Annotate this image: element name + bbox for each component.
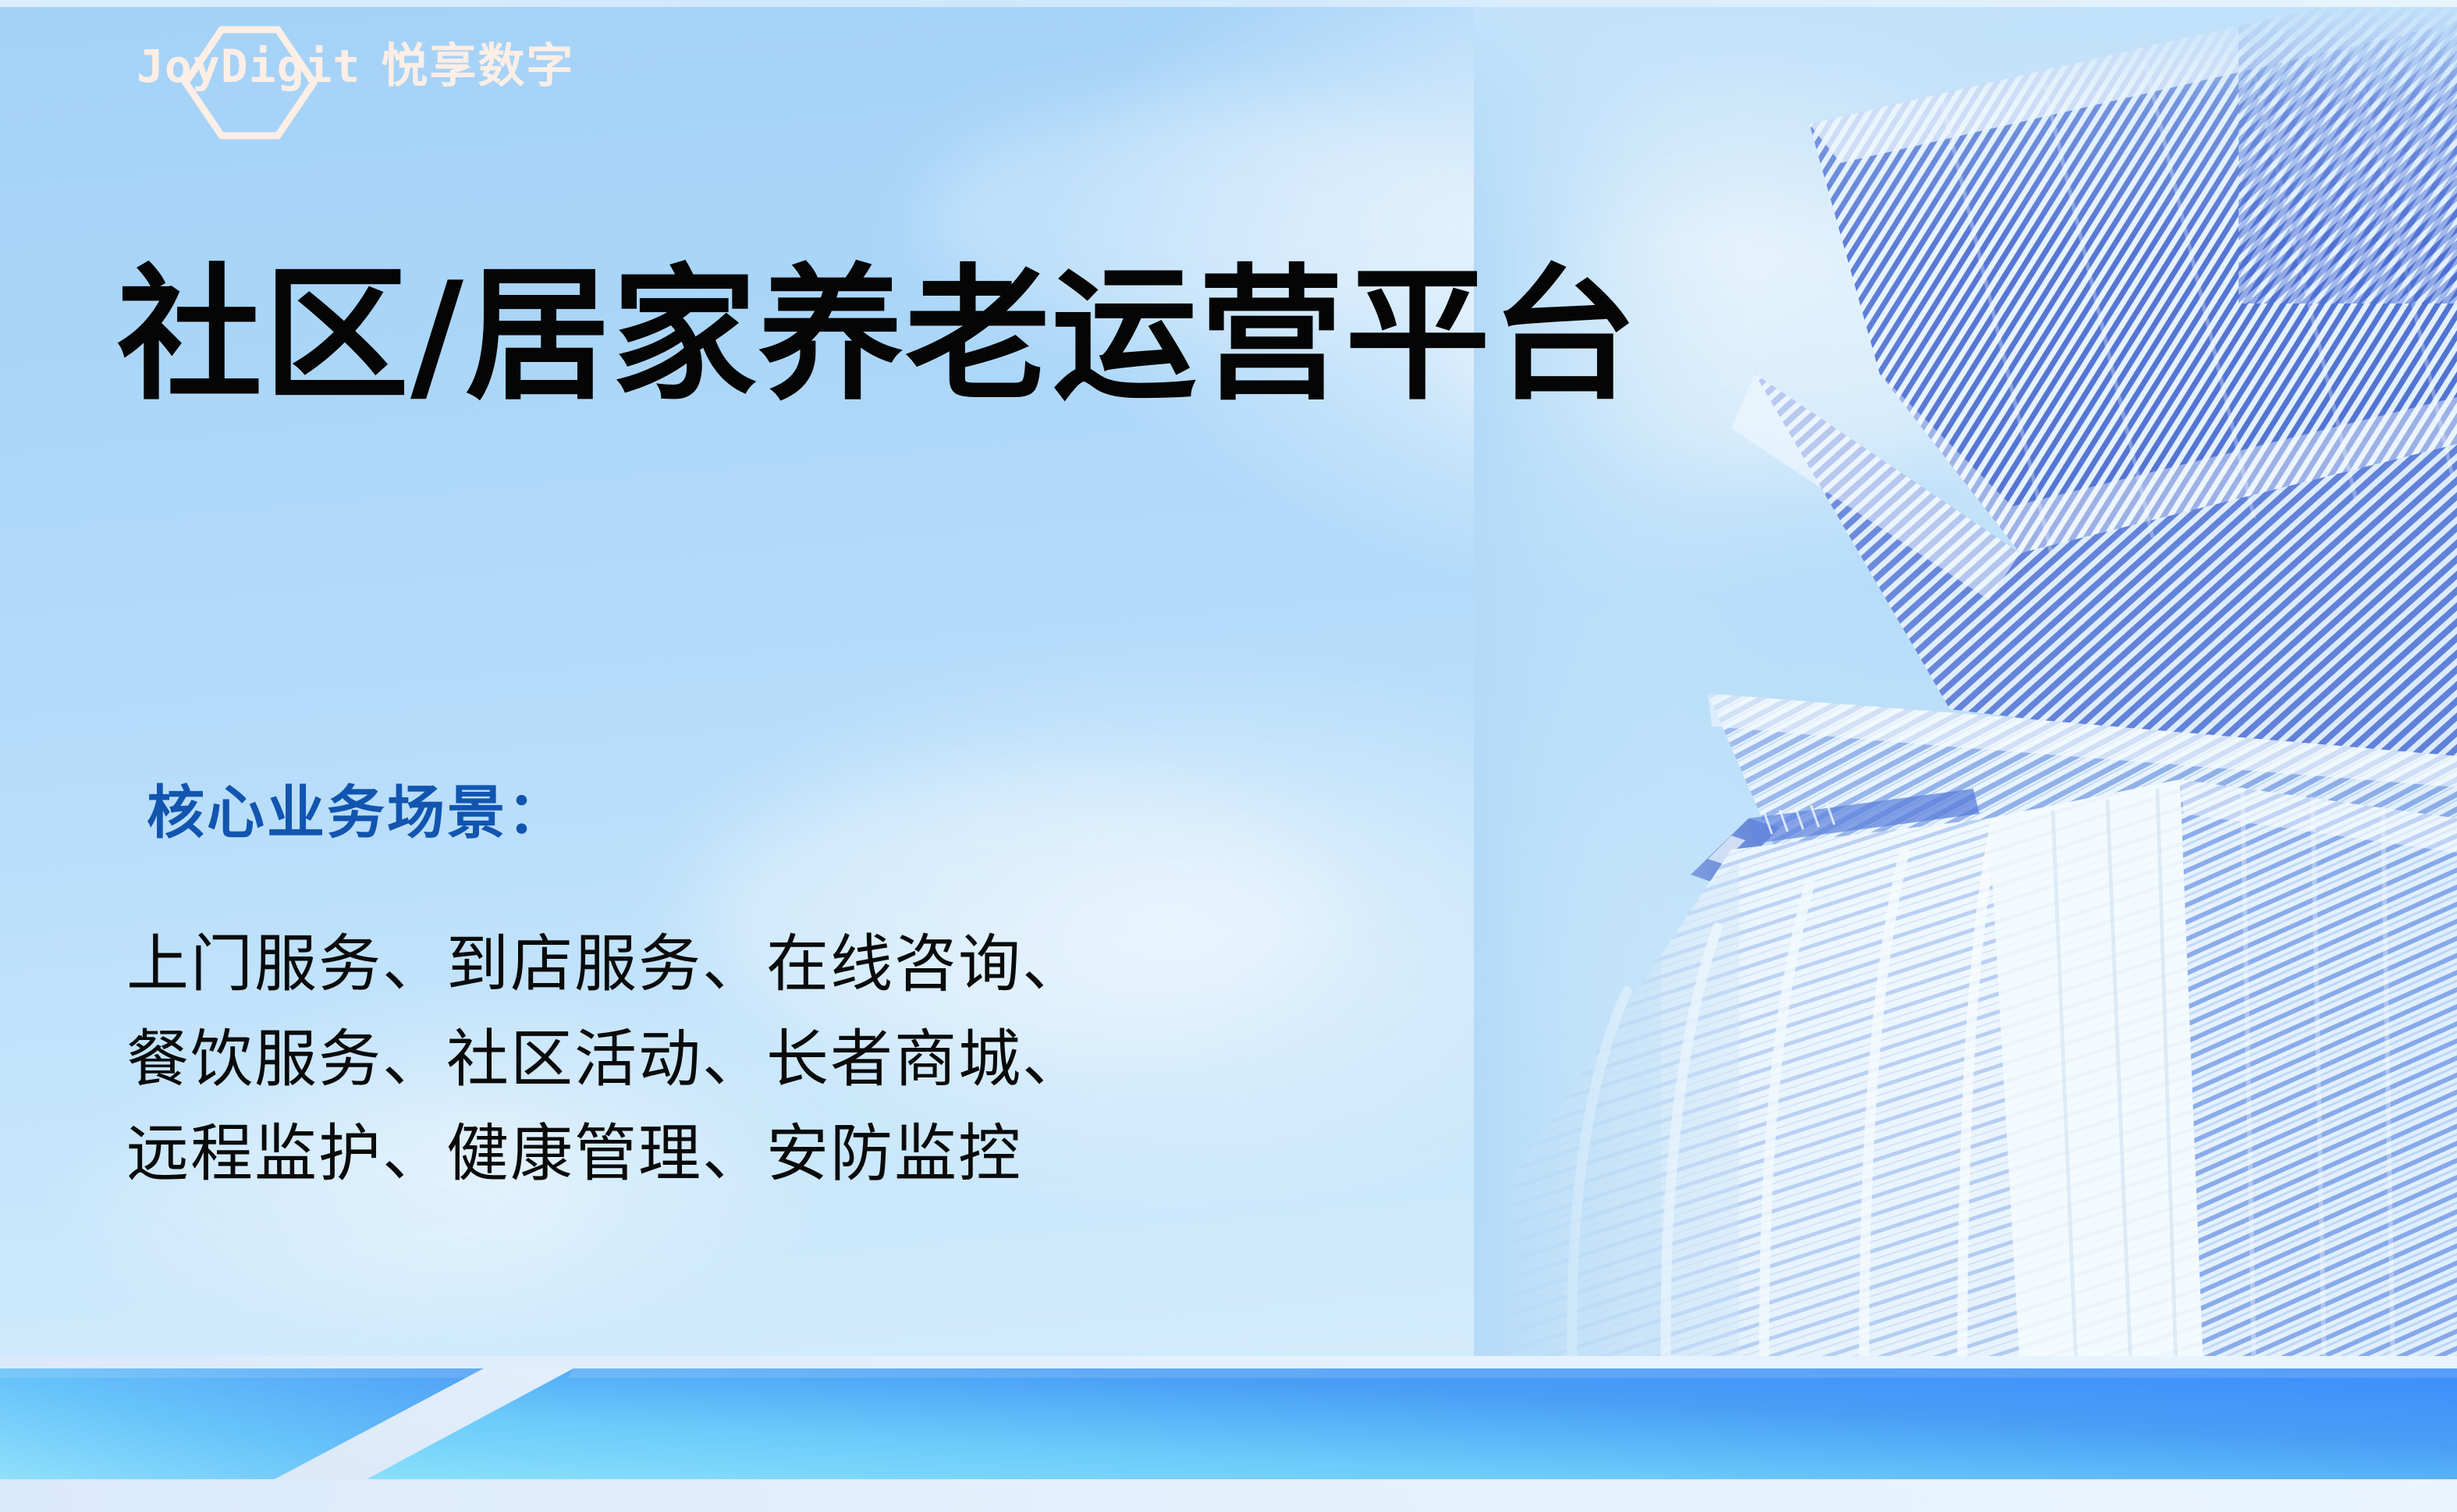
top-accent-strip xyxy=(0,0,2457,7)
band-right xyxy=(367,1368,2457,1479)
scenario-list: 上门服务、到店服务、在线咨询、 餐饮服务、社区活动、长者商城、 远程监护、健康管… xyxy=(126,917,1086,1201)
scenario-line: 餐饮服务、社区活动、长者商城、 xyxy=(126,1012,1086,1107)
section-heading: 核心业务场景： xyxy=(147,782,567,845)
logo-wordmark-latin: JoyDigit xyxy=(137,44,360,89)
logo-wordmark-cn: 悦享数字 xyxy=(381,43,574,90)
bottom-decoration-bar xyxy=(0,1356,2457,1512)
scenario-line: 上门服务、到店服务、在线咨询、 xyxy=(126,917,1086,1012)
skyscraper-photo xyxy=(1474,7,2457,1369)
brand-logo[interactable]: JoyDigit 悦享数字 xyxy=(137,43,573,118)
presentation-slide: JoyDigit 悦享数字 社区/居家养老运营平台 核心业务场景： 上门服务、到… xyxy=(0,0,2457,1512)
page-title: 社区/居家养老运营平台 xyxy=(117,257,1639,414)
scenario-line: 远程监护、健康管理、安防监控 xyxy=(126,1106,1086,1201)
